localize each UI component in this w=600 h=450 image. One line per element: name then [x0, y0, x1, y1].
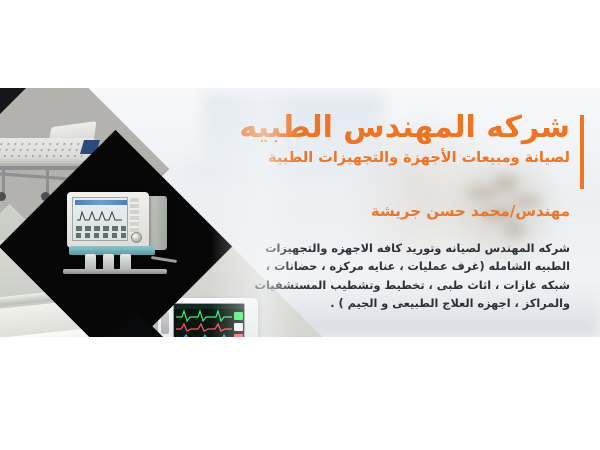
banner-text-block: شركه المهندس الطبيه لصيانة ومبيعات الأجه… — [224, 88, 584, 337]
company-title: شركه المهندس الطبيه — [239, 112, 570, 144]
ventilator-support-arm — [151, 256, 177, 263]
description-line: شركه المهندس لصيانه وتوريد كافه الاجهزه … — [234, 240, 570, 258]
bed-crossbar — [0, 171, 69, 181]
description-line: والمراكز ، اجهزه العلاج الطبيعى و الجيم … — [234, 295, 570, 313]
bed-perforations — [0, 141, 87, 160]
title-accent-bar — [580, 115, 584, 189]
ventilator-waveform-icon — [76, 209, 126, 223]
ventilator-screen-topbar — [75, 200, 127, 205]
ventilator-base — [63, 269, 167, 274]
ventilator-body — [67, 192, 149, 248]
engineer-name: مهندس/محمد حسن جريشة — [371, 202, 570, 220]
company-subtitle: لصيانة ومبيعات الأجهزة والتجهيزات الطبية — [239, 150, 570, 166]
ventilator-illustration — [67, 192, 177, 292]
description-line: الطبيه الشامله (غرف عمليات ، عنايه مركزه… — [234, 258, 570, 276]
corner-accent-triangle — [0, 88, 26, 114]
ventilator-knob — [131, 232, 142, 243]
description-line: شبكه غازات ، اثاث طبى ، تخطيط وتشطيب الم… — [234, 277, 570, 295]
title-group: شركه المهندس الطبيه لصيانة ومبيعات الأجه… — [239, 112, 584, 166]
company-description: شركه المهندس لصيانه وتوريد كافه الاجهزه … — [234, 240, 570, 313]
ventilator-screen — [72, 197, 128, 241]
company-banner: شركه المهندس الطبيه لصيانة ومبيعات الأجه… — [0, 88, 600, 337]
ventilator-screen-values — [76, 225, 126, 239]
ventilator-humidifier-bottles — [85, 254, 131, 270]
